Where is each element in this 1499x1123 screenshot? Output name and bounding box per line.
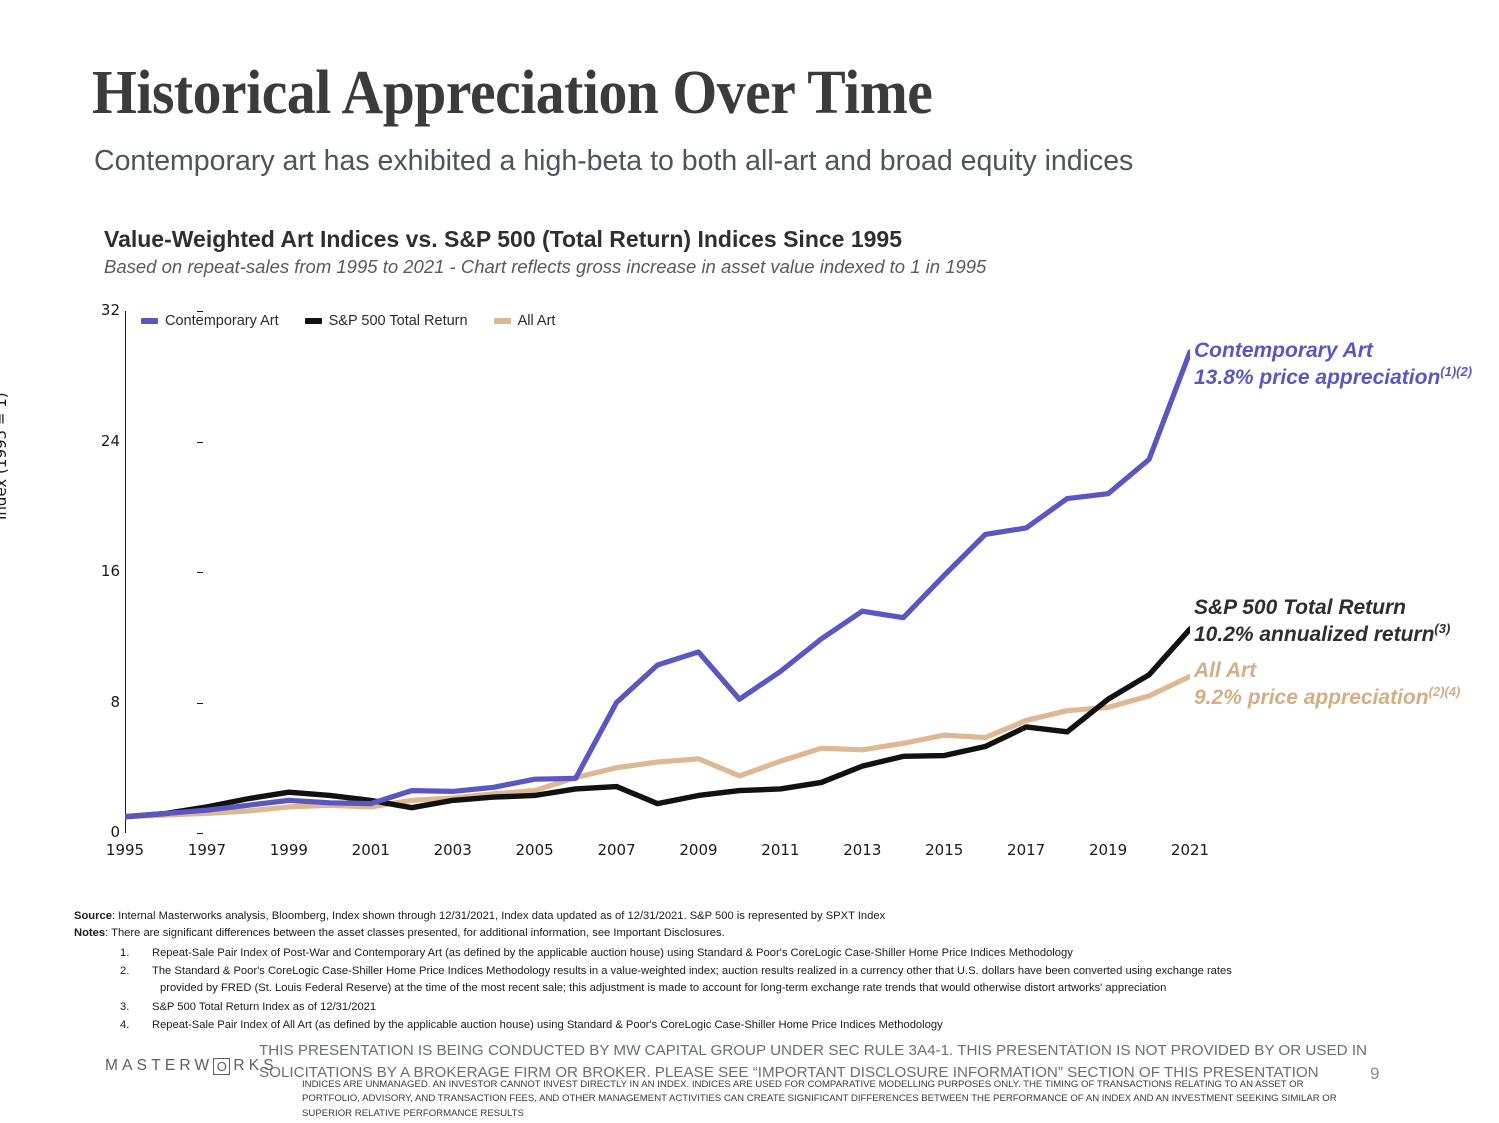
y-tick-label: 32 [80, 301, 120, 319]
legend-swatch-icon [141, 318, 158, 324]
legend-label: All Art [518, 313, 556, 329]
annotation-contemporary-art: Contemporary Art 13.8% price appreciatio… [1194, 338, 1472, 390]
x-tick-label: 2001 [352, 841, 390, 859]
x-tick-label: 2017 [1007, 841, 1045, 859]
x-tick-label: 2009 [679, 841, 717, 859]
footnote-number: 4. [120, 1017, 129, 1034]
annotation-all-art-line1: All Art [1194, 658, 1460, 684]
logo-box-letter: O [213, 1058, 230, 1075]
x-tick-label: 2003 [434, 841, 472, 859]
y-tick-label: 0 [80, 823, 120, 841]
footnote-text: Repeat-Sale Pair Index of Post-War and C… [152, 947, 1073, 959]
footnote-notes-label: Notes [74, 927, 105, 939]
footnote-item: 3.S&P 500 Total Return Index as of 12/31… [74, 999, 1434, 1016]
annotation-sp500-refs: (3) [1434, 621, 1450, 636]
x-tick-label: 2019 [1089, 841, 1127, 859]
series-line-contemporary-art [125, 352, 1190, 817]
disclaimer-main: THIS PRESENTATION IS BEING CONDUCTED BY … [259, 1040, 1419, 1083]
chart-subtitle: Based on repeat-sales from 1995 to 2021 … [104, 256, 986, 278]
page-subtitle: Contemporary art has exhibited a high-be… [94, 145, 1133, 178]
y-axis-title: Index (1995 = 1) [0, 392, 10, 520]
x-tick-label: 2007 [597, 841, 635, 859]
series-line-s-p-500-total-return [125, 629, 1190, 817]
annotation-contemporary-art-line2: 13.8% price appreciation(1)(2) [1194, 364, 1472, 391]
footnote-item: 4.Repeat-Sale Pair Index of All Art (as … [74, 1017, 1434, 1034]
disclaimer-small: INDICES ARE UNMANAGED. AN INVESTOR CANNO… [302, 1078, 1342, 1121]
footnote-notes-text: : There are significant differences betw… [105, 927, 725, 939]
footnotes-block: Source: Internal Masterworks analysis, B… [74, 908, 1434, 1036]
footnote-text-continued: provided by FRED (St. Louis Federal Rese… [152, 980, 1434, 997]
x-tick-label: 2013 [843, 841, 881, 859]
page-number: 9 [1370, 1064, 1379, 1084]
footnote-source-text: : Internal Masterworks analysis, Bloombe… [112, 910, 885, 922]
legend-label: Contemporary Art [165, 313, 279, 329]
x-tick-label: 2015 [925, 841, 963, 859]
y-tick-label: 16 [80, 562, 120, 580]
y-tick-label: 8 [80, 693, 120, 711]
annotation-all-art-refs: (2)(4) [1429, 684, 1461, 699]
footnote-item: 2.The Standard & Poor's CoreLogic Case-S… [74, 963, 1434, 998]
footnote-text: The Standard & Poor's CoreLogic Case-Shi… [152, 965, 1232, 977]
masterworks-logo: MASTERWORKS [105, 1057, 278, 1075]
annotation-contemporary-art-line1: Contemporary Art [1194, 338, 1472, 364]
chart-legend: Contemporary ArtS&P 500 Total ReturnAll … [141, 313, 555, 329]
footnote-text: S&P 500 Total Return Index as of 12/31/2… [152, 1001, 376, 1013]
annotation-all-art: All Art 9.2% price appreciation(2)(4) [1194, 658, 1460, 710]
footnote-number: 3. [120, 999, 129, 1016]
annotation-all-art-line2: 9.2% price appreciation(2)(4) [1194, 684, 1460, 711]
x-tick-label: 2005 [516, 841, 554, 859]
line-chart-svg [125, 311, 1190, 833]
legend-swatch-icon [494, 318, 511, 324]
x-tick-label: 2011 [761, 841, 799, 859]
annotation-sp500-line2: 10.2% annualized return(3) [1194, 621, 1450, 648]
chart-plot-area [125, 311, 1190, 833]
legend-item[interactable]: All Art [494, 313, 556, 329]
series-line-all-art [125, 676, 1190, 816]
footnote-source: Source: Internal Masterworks analysis, B… [74, 908, 1434, 925]
page-title: Historical Appreciation Over Time [92, 58, 932, 129]
x-tick-label: 1995 [106, 841, 144, 859]
footnote-number: 1. [120, 945, 129, 962]
annotation-contemporary-art-refs: (1)(2) [1440, 364, 1472, 379]
chart-title: Value-Weighted Art Indices vs. S&P 500 (… [104, 226, 902, 253]
y-axis-ticks: 08162432 [72, 311, 120, 833]
annotation-sp500-line1: S&P 500 Total Return [1194, 595, 1450, 621]
legend-item[interactable]: S&P 500 Total Return [305, 313, 468, 329]
footnote-list: 1.Repeat-Sale Pair Index of Post-War and… [74, 945, 1434, 1035]
footnote-item: 1.Repeat-Sale Pair Index of Post-War and… [74, 945, 1434, 962]
y-tick-mark [197, 833, 203, 834]
x-axis-ticks: 1995199719992001200320052007200920112013… [125, 841, 1190, 865]
y-tick-label: 24 [80, 432, 120, 450]
x-tick-label: 1999 [270, 841, 308, 859]
legend-label: S&P 500 Total Return [329, 313, 468, 329]
legend-item[interactable]: Contemporary Art [141, 313, 279, 329]
legend-swatch-icon [305, 318, 322, 324]
footnote-notes: Notes: There are significant differences… [74, 925, 1434, 942]
annotation-sp500: S&P 500 Total Return 10.2% annualized re… [1194, 595, 1450, 647]
x-tick-label: 1997 [188, 841, 226, 859]
footnote-source-label: Source [74, 910, 112, 922]
x-tick-label: 2021 [1171, 841, 1209, 859]
logo-text-before: MASTERW [105, 1057, 213, 1075]
footnote-text: Repeat-Sale Pair Index of All Art (as de… [152, 1019, 943, 1031]
footnote-number: 2. [120, 963, 129, 980]
